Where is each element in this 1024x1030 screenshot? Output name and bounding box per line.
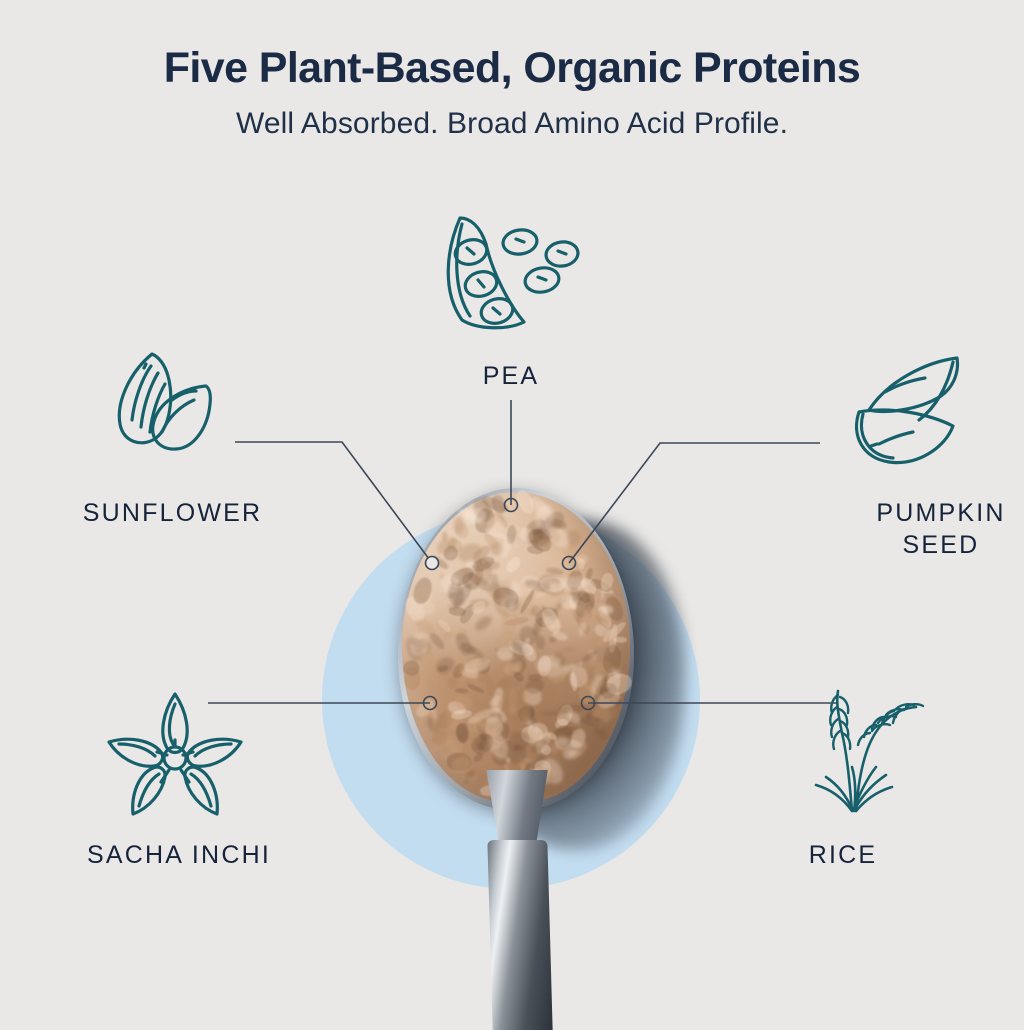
ingredient-label-rice: RICE [700, 839, 986, 871]
rice-stalk-icon [812, 685, 930, 815]
infographic-canvas: Five Plant-Based, Organic Proteins Well … [0, 0, 1024, 1024]
pea-pod-icon [440, 210, 580, 335]
ingredient-label-pea: PEA [390, 360, 632, 392]
ingredient-label-sunflower: SUNFLOWER [0, 497, 345, 529]
ingredient-label-sacha-inchi: SACHA INCHI [0, 839, 358, 871]
marker-sunflower [426, 557, 439, 570]
sacha-inchi-flower-icon [105, 690, 245, 820]
ingredient-label-pumpkin-seed: PUMPKIN SEED [760, 497, 1024, 561]
sunflower-seed-icon [100, 348, 230, 458]
pumpkin-seed-icon [845, 352, 967, 474]
